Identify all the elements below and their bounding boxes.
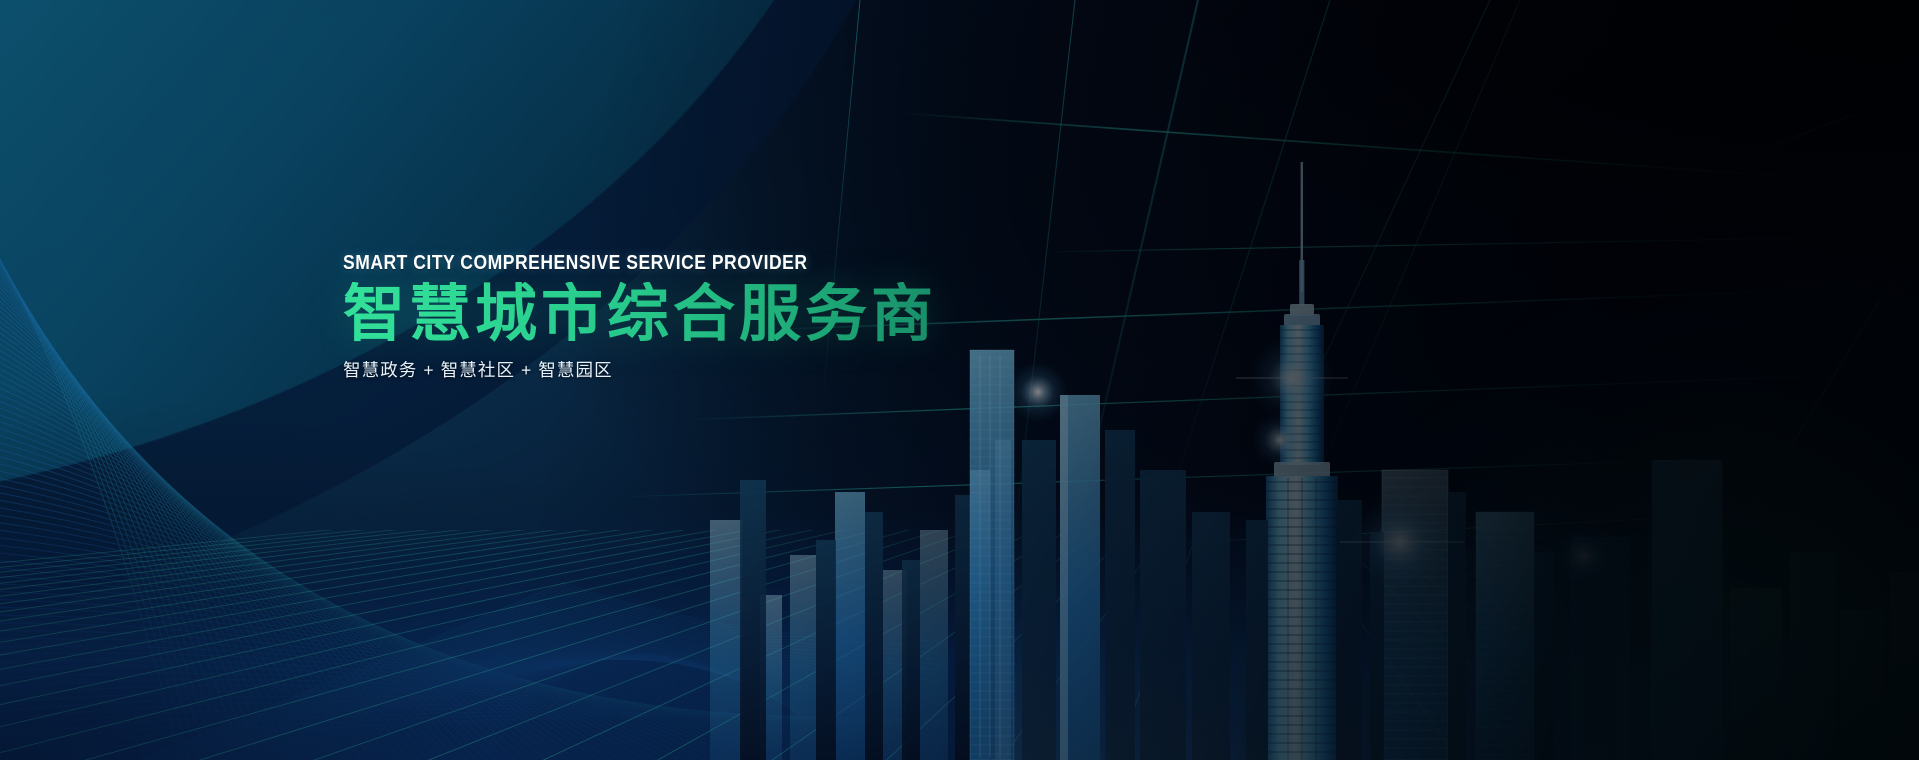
banner-headline: 智慧城市综合服务商 — [343, 282, 1063, 349]
banner-eyebrow-text: SMART CITY COMPREHENSIVE SERVICE PROVIDE… — [343, 252, 959, 275]
smart-city-banner: SMART CITY COMPREHENSIVE SERVICE PROVIDE… — [0, 0, 1919, 760]
banner-text-block: SMART CITY COMPREHENSIVE SERVICE PROVIDE… — [343, 252, 1063, 382]
banner-subline: 智慧政务 + 智慧社区 + 智慧园区 — [343, 357, 1063, 382]
green-glow-secondary — [1299, 260, 1919, 760]
